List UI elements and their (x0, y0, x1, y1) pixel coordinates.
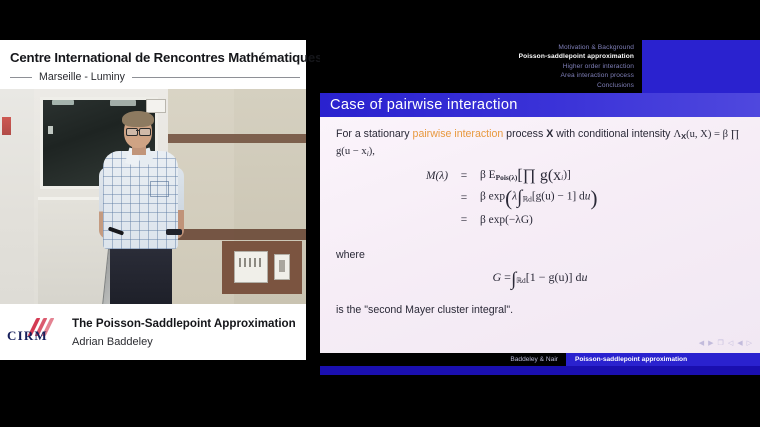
wall-band-lower (168, 229, 306, 240)
institution-location: Marseille - Luminy (32, 71, 132, 83)
speaker-wristwatch (166, 229, 182, 235)
institution-location-row: Marseille - Luminy (10, 70, 300, 84)
footer-section: Poisson-saddlepoint approximation (575, 356, 687, 363)
eq3-equals: = (457, 214, 471, 226)
eq1-beta-e: β E (480, 169, 496, 181)
beamer-nav-doc-icon[interactable]: ❐ (718, 340, 724, 348)
institution-header: Centre International de Rencontres Mathé… (0, 40, 306, 89)
logo-text: CIRM (7, 328, 48, 344)
eq2-body: [g(u) − 1] d (532, 190, 585, 202)
nav-accent-block (642, 40, 760, 93)
intro-part1: For a stationary (336, 128, 413, 140)
beamer-navigation-symbols[interactable]: ◀ ▶ ❐ ◁ ◀ ▷ (699, 340, 752, 348)
footer-authors: Baddeley & Nair (510, 356, 558, 363)
highlight-pairwise-interaction: pairwise interaction (413, 128, 504, 140)
nav-item-poisson-saddlepoint[interactable]: Poisson-saddlepoint approximation (320, 52, 634, 61)
g-lhs: G (493, 270, 502, 284)
window-reflection-1 (52, 100, 74, 105)
presentation-slide[interactable]: Motivation & Background Poisson-saddlepo… (320, 40, 760, 375)
window-reflection-3 (48, 126, 53, 134)
eq1-tail: )] (563, 169, 571, 181)
eq1-pois-subscript: Pois(λ) (496, 173, 518, 182)
eq3-rhs: β exp(−λG) (471, 214, 533, 226)
intensity-formula-end: ), (369, 146, 375, 157)
eq1-product-bracket: [∏ g(x (517, 167, 561, 185)
g-variable: u (582, 270, 588, 284)
beamer-nav-forward-icon[interactable]: ▷ (747, 340, 752, 348)
slide-navigation-bar: Motivation & Background Poisson-saddlepo… (320, 40, 760, 93)
symbol-lambda: Λ (673, 129, 681, 140)
eq2-rhs: β exp(λ∫ℝd[g(u) − 1] du) (471, 186, 597, 211)
g-definition-equation: G =∫ℝd[1 − g(u)] du (320, 269, 760, 291)
switch-plate-small (274, 254, 290, 280)
nav-item-area-interaction[interactable]: Area interaction process (320, 71, 634, 80)
eq1-lhs: M(λ) (390, 170, 457, 182)
speaker-panel: Centre International de Rencontres Mathé… (0, 40, 306, 360)
speaker-video-still[interactable] (0, 89, 306, 304)
speaker-trousers (110, 241, 172, 304)
slide-title-bar: Case of pairwise interaction (320, 93, 760, 117)
beamer-nav-begin-icon[interactable]: ◀ (737, 340, 742, 348)
intro-paragraph: For a stationary pairwise interaction pr… (336, 127, 744, 161)
equation-block: M(λ) = β EPois(λ)[∏ g(xi)] = β exp(λ∫ℝd[… (390, 165, 730, 231)
switch-plate-large (234, 251, 268, 283)
equation-row-1: M(λ) = β EPois(λ)[∏ g(xi)] (390, 165, 730, 187)
intro-part3: with conditional intensity (553, 128, 673, 140)
equation-row-3: = β exp(−λG) (390, 209, 730, 231)
wall-sign (146, 99, 166, 113)
speaker-shirt-pocket (150, 181, 169, 197)
eq2-beta-exp: β exp (480, 190, 505, 202)
beamer-nav-next-frame-icon[interactable]: ▶ (708, 340, 713, 348)
rule-left (10, 77, 32, 78)
cirm-logo: CIRM (7, 317, 63, 345)
glasses-lens-right-icon (139, 128, 151, 136)
speaker-hair (122, 111, 154, 127)
where-label: where (336, 249, 365, 261)
intro-part2: process (503, 128, 546, 140)
g-body: [1 − g(u)] d (526, 270, 582, 284)
eq2-paren-close: ) (590, 186, 597, 211)
beamer-nav-prev-frame-icon[interactable]: ◀ (699, 340, 704, 348)
institution-name: Centre International de Rencontres Mathé… (10, 50, 322, 65)
exit-sign (2, 117, 11, 135)
footer-section-block: Poisson-saddlepoint approximation (566, 353, 760, 366)
nav-item-higher-order[interactable]: Higher order interaction (320, 62, 634, 71)
talk-author: Adrian Baddeley (72, 336, 153, 348)
g-equals: = (504, 270, 511, 284)
slide-section-list: Motivation & Background Poisson-saddlepo… (320, 43, 638, 90)
eq1-equals: = (457, 170, 471, 182)
footer-authors-block: Baddeley & Nair (320, 353, 566, 366)
window-reflection-2 (110, 100, 136, 106)
glasses-bridge-icon (136, 130, 139, 131)
beamer-nav-back-icon[interactable]: ◁ (728, 340, 733, 348)
nav-item-conclusions[interactable]: Conclusions (320, 81, 634, 90)
nav-item-motivation[interactable]: Motivation & Background (320, 43, 634, 52)
wall-band-upper (168, 134, 306, 143)
equation-row-2: = β exp(λ∫ℝd[g(u) − 1] du) (390, 187, 730, 209)
eq1-rhs: β EPois(λ)[∏ g(xi)] (471, 167, 571, 185)
eq2-equals: = (457, 192, 471, 204)
screen-recording-stage: Centre International de Rencontres Mathé… (0, 0, 760, 427)
slide-footer: Baddeley & Nair Poisson-saddlepoint appr… (320, 353, 760, 366)
slide-bottom-accent-bar (320, 366, 760, 375)
talk-caption: CIRM The Poisson-Saddlepoint Approximati… (0, 304, 306, 360)
slide-title: Case of pairwise interaction (330, 97, 518, 113)
talk-title: The Poisson-Saddlepoint Approximation (72, 317, 296, 330)
slide-content: For a stationary pairwise interaction pr… (320, 117, 760, 353)
rule-right (132, 77, 300, 78)
mayer-integral-caption: is the "second Mayer cluster integral". (336, 304, 513, 316)
